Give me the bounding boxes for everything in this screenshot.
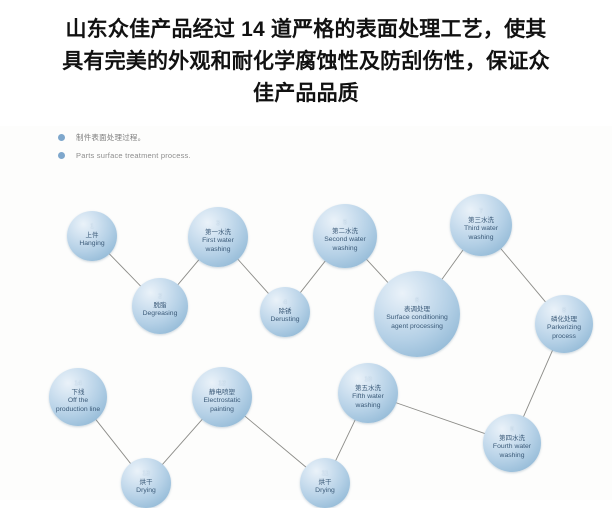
- flow-connector-line: [523, 350, 553, 418]
- flow-node-label-cn: 下线: [72, 389, 85, 397]
- flow-node-label-en: Drying: [132, 487, 160, 495]
- flow-node-3[interactable]: 3第一水洗First water washing: [188, 207, 248, 267]
- flow-connector-line: [109, 253, 141, 286]
- flow-node-label-en: Off the production line: [49, 397, 107, 414]
- flow-node-label-cn: 烘干: [140, 479, 153, 487]
- flow-node-label-en: Derusting: [266, 316, 303, 324]
- flow-node-label-cn: 烘干: [319, 479, 332, 487]
- flow-node-8[interactable]: 8磷化处理Parkerizing process: [535, 295, 593, 353]
- flow-node-number: 9: [510, 426, 514, 434]
- flow-node-6[interactable]: 6表调处理Surface conditioning agent processi…: [374, 271, 460, 357]
- flow-node-label-cn: 第三水洗: [468, 217, 494, 225]
- flow-node-7[interactable]: 7第三水洗Third water washing: [450, 194, 512, 256]
- flow-node-label-cn: 磷化处理: [551, 316, 577, 324]
- flow-connector-line: [500, 248, 546, 303]
- flow-node-number: 3: [216, 220, 220, 228]
- flow-node-label-cn: 上件: [86, 232, 99, 240]
- flow-node-number: 6: [415, 297, 419, 305]
- flow-node-label-en: Hanging: [75, 240, 108, 248]
- flow-node-11[interactable]: 11烘干Drying: [300, 458, 350, 508]
- flow-node-label-en: Degreasing: [139, 310, 182, 318]
- flow-node-number: 14: [74, 380, 81, 388]
- flow-node-label-en: Third water washing: [450, 225, 512, 242]
- flow-node-label-cn: 第一水洗: [205, 229, 231, 237]
- flow-connector-line: [244, 416, 306, 468]
- flow-node-10[interactable]: 10第五水洗Fifth water washing: [338, 363, 398, 423]
- flow-node-label-en: Electrostatic painting: [192, 397, 252, 414]
- page-title-line-1: 山东众佳产品经过 14 道严格的表面处理工艺，使其: [28, 14, 584, 46]
- flow-node-label-en: Fifth water washing: [338, 393, 398, 410]
- flow-node-number: 8: [562, 307, 566, 315]
- flow-node-9[interactable]: 9第四水洗Fourth water washing: [483, 414, 541, 472]
- flow-node-label-cn: 除锈: [279, 308, 292, 316]
- flow-node-number: 10: [364, 376, 371, 384]
- flow-node-2[interactable]: 2脱脂Degreasing: [132, 278, 188, 334]
- flow-node-label-en: Second water washing: [313, 236, 377, 253]
- process-flow-diagram: 制件表面处理过程。 Parts surface treatment proces…: [0, 126, 612, 500]
- flow-node-label-en: First water washing: [188, 237, 248, 254]
- flow-node-13[interactable]: 13烘干Drying: [121, 458, 171, 508]
- flow-node-label-cn: 第二水洗: [332, 228, 358, 236]
- flow-node-label-en: Fourth water washing: [483, 443, 541, 460]
- flow-node-number: 2: [158, 293, 162, 301]
- flow-node-label-en: Parkerizing process: [535, 324, 593, 341]
- flow-connector-line: [237, 259, 269, 294]
- flow-node-number: 13: [142, 470, 149, 478]
- flow-node-label-cn: 脱脂: [154, 302, 167, 310]
- flow-node-label-en: Surface conditioning agent processing: [374, 314, 460, 331]
- flow-node-label-cn: 静电喷塑: [209, 389, 235, 397]
- flow-node-4[interactable]: 4除锈Derusting: [260, 287, 310, 337]
- flow-connector-line: [177, 259, 199, 285]
- flow-connector-line: [162, 419, 203, 465]
- flow-node-12[interactable]: 12静电喷塑Electrostatic painting: [192, 367, 252, 427]
- flow-node-label-cn: 第四水洗: [499, 435, 525, 443]
- page-title-line-2: 具有完美的外观和耐化学腐蚀性及防刮伤性，保证众: [28, 46, 584, 78]
- flow-node-number: 7: [479, 208, 483, 216]
- flow-node-5[interactable]: 5第二水洗Second water washing: [313, 204, 377, 268]
- flow-node-number: 5: [343, 219, 347, 227]
- flow-connector-line: [95, 419, 131, 464]
- flow-node-1[interactable]: 1上件Hanging: [67, 211, 117, 261]
- flow-connector-line: [366, 259, 388, 283]
- flow-node-number: 11: [322, 470, 329, 478]
- flow-connector-line: [395, 403, 485, 434]
- flow-connector-line: [442, 249, 464, 280]
- flow-node-number: 4: [283, 299, 287, 307]
- flow-node-14[interactable]: 14下线Off the production line: [49, 368, 107, 426]
- flow-node-label-cn: 第五水洗: [355, 385, 381, 393]
- flow-connector-line: [300, 260, 326, 293]
- flow-connector-line: [335, 419, 355, 461]
- page-title-line-3: 佳产品品质: [28, 78, 584, 110]
- page-title: 山东众佳产品经过 14 道严格的表面处理工艺，使其 具有完美的外观和耐化学腐蚀性…: [0, 0, 612, 110]
- flow-node-number: 12: [218, 380, 225, 388]
- flow-node-label-en: Drying: [311, 487, 339, 495]
- flow-node-label-cn: 表调处理: [404, 306, 430, 314]
- flow-node-number: 1: [90, 223, 94, 231]
